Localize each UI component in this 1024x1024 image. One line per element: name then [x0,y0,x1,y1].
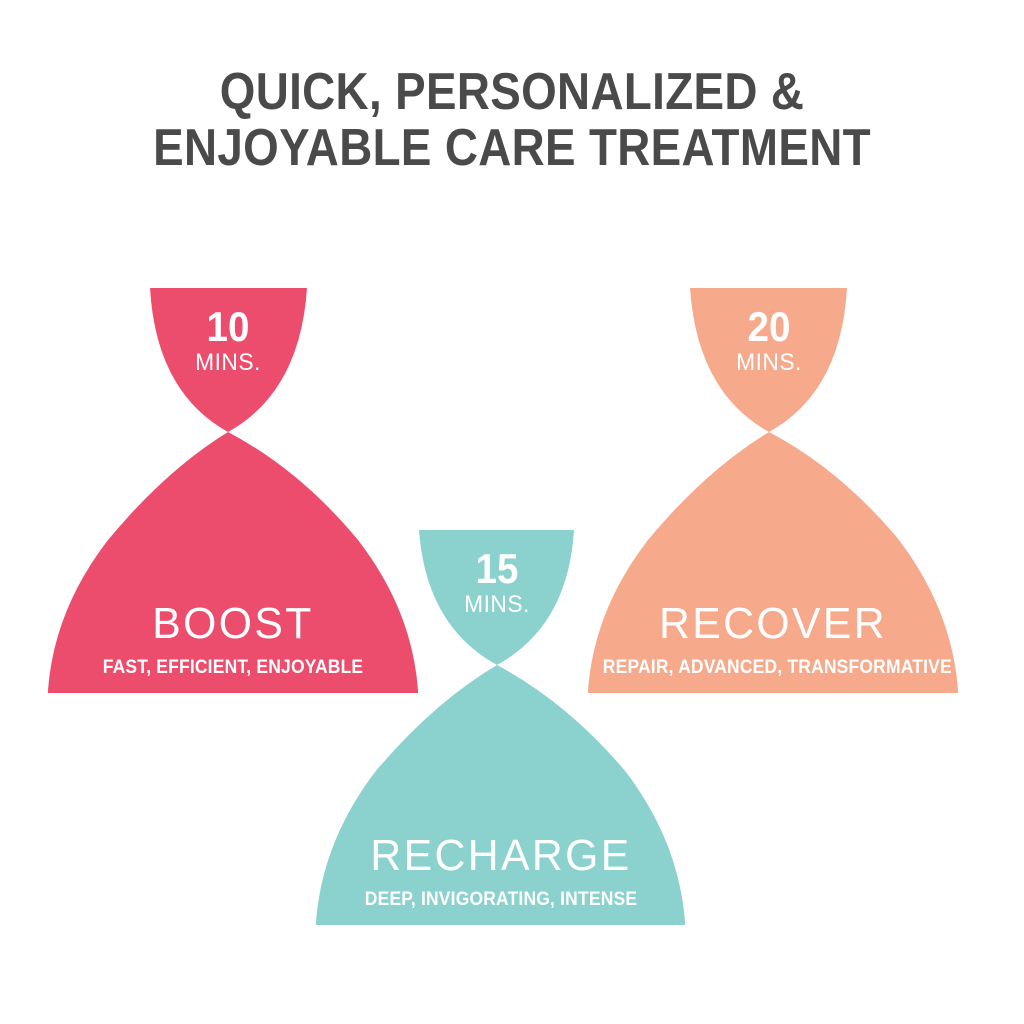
hourglass-boost[interactable] [48,288,418,693]
boost-bottom-dome [48,432,418,693]
boost-top-cone [150,288,307,432]
recover-bottom-dome [588,432,958,693]
recharge-top-cone [419,530,574,665]
recharge-bottom-dome [316,665,685,925]
hourglass-chart [0,0,1024,1024]
recover-top-cone [690,288,847,432]
hourglass-recover[interactable] [588,288,958,693]
infographic-canvas: QUICK, PERSONALIZED & ENJOYABLE CARE TRE… [0,0,1024,1024]
